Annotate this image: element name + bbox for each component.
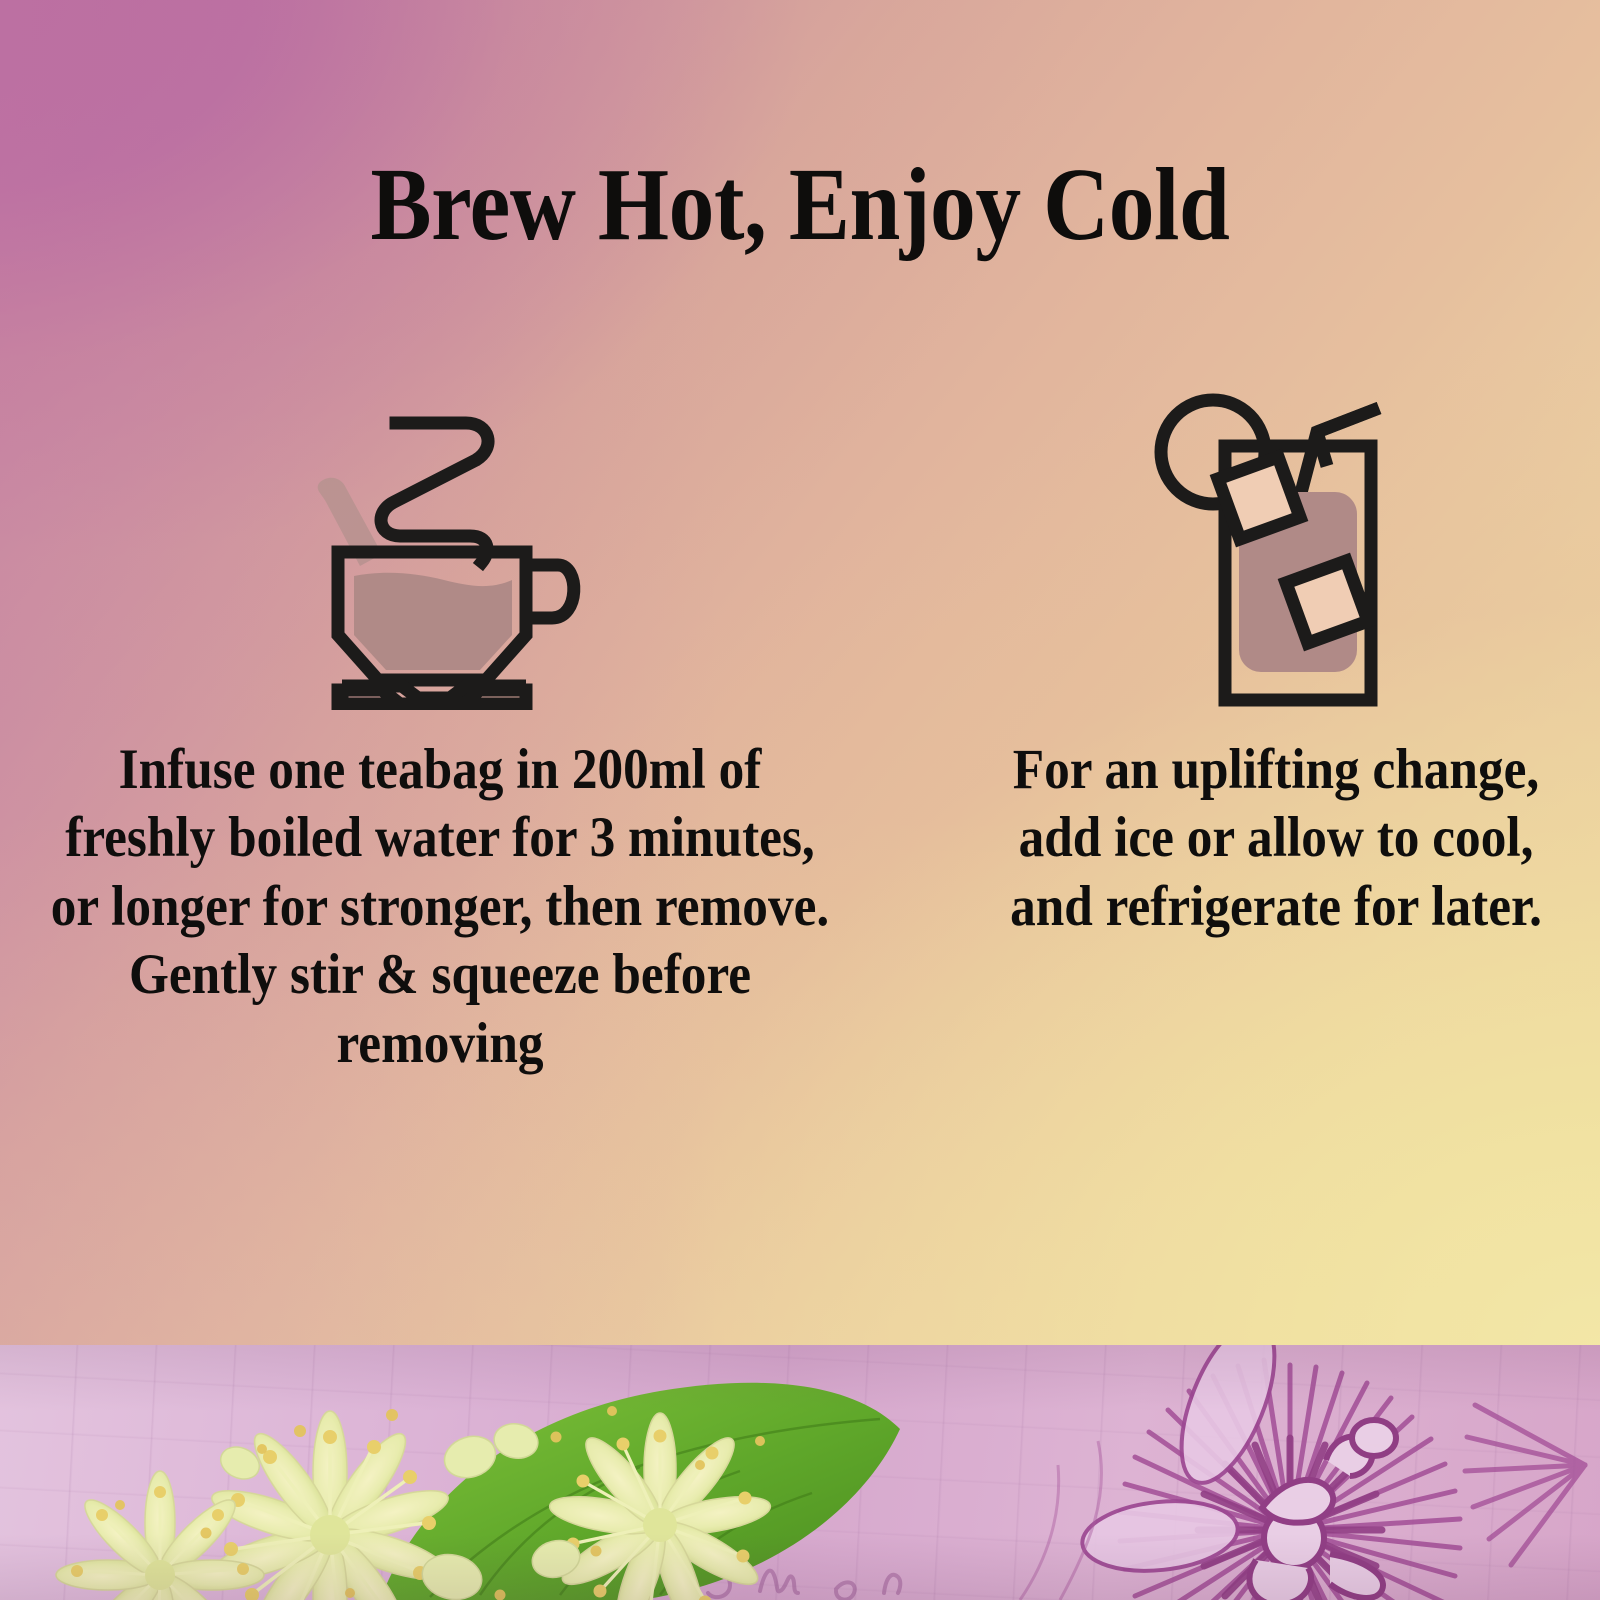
ice-cube-icon [1218,457,1300,539]
instruction-text-hot: Infuse one teabag in 200ml of freshly bo… [44,736,836,1078]
iced-drink-glass-icon [1141,380,1411,710]
strip-vignette [0,1345,1600,1600]
steam-squiggle-icon [381,423,488,562]
tea-liquid-fill [354,573,512,670]
instruction-text-cold: For an uplifting change, add ice or allo… [997,736,1555,941]
teacup-icon-wrapper [290,380,590,710]
ice-cube-icon [1286,561,1368,643]
brewing-instructions-poster: Brew Hot, Enjoy Cold [0,0,1600,1600]
page-title: Brew Hot, Enjoy Cold [96,150,1504,259]
instruction-column-cold: For an uplifting change, add ice or allo… [926,380,1600,1160]
instruction-columns: Infuse one teabag in 200ml of freshly bo… [0,380,1600,1160]
bottom-photo-strip [0,1345,1600,1600]
iced-glass-icon-wrapper [1141,380,1411,710]
instruction-column-hot: Infuse one teabag in 200ml of freshly bo… [0,380,926,1160]
teacup-with-steam-icon [290,390,590,710]
